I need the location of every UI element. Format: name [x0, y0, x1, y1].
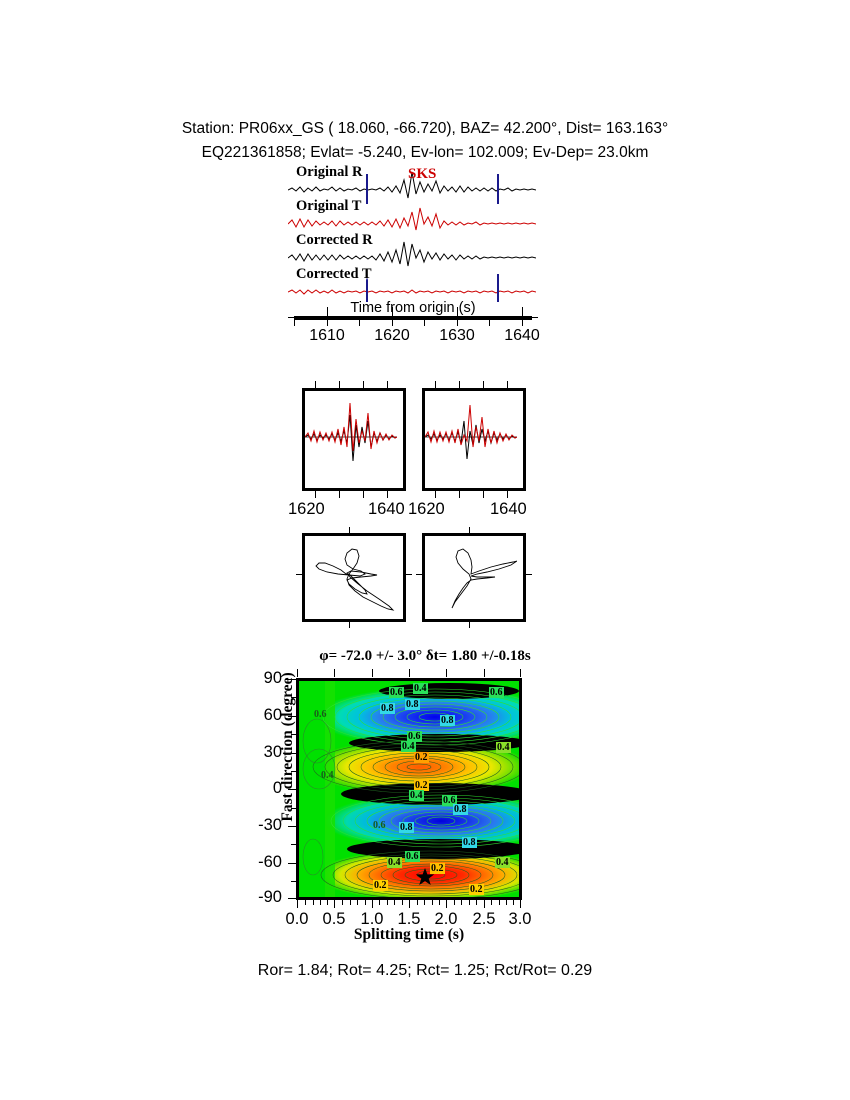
splitting-result-title: φ= -72.0 +/- 3.0° δt= 1.80 +/-0.18s: [0, 648, 850, 665]
time-tick-label-1630: 1630: [433, 327, 481, 345]
figure-header: Station: PR06xx_GS ( 18.060, -66.720), B…: [0, 118, 850, 164]
contour-label: 0.6: [489, 687, 504, 698]
y-tick-label-neg60: -60: [236, 853, 282, 872]
trace-label-corrected-r: Corrected R: [296, 232, 373, 249]
contour-label: 0.8: [440, 715, 455, 726]
trace-original-transverse: Original T: [288, 202, 536, 236]
contour-surface: [299, 681, 519, 897]
y-tick-neg90: [288, 898, 296, 899]
contour-label: 0.8: [453, 804, 468, 815]
y-tick-label-neg90: -90: [236, 888, 282, 907]
contour-label: 0.6: [372, 820, 387, 831]
time-tick-1620: [392, 307, 393, 317]
contour-label: 0.6: [405, 851, 420, 862]
contour-plot-area: 0.6 0.4 0.8 0.8 0.6 0.6 0.8 0.6 0.4 0.4 …: [296, 678, 522, 900]
y-tick-label-90: 90: [236, 669, 282, 688]
contour-label: 0.4: [495, 857, 510, 868]
trace-corrected-radial: Corrected R: [288, 236, 536, 270]
contour-label: 0.4: [387, 857, 402, 868]
time-tick-1640: [522, 307, 523, 317]
time-tick-1630: [457, 307, 458, 317]
time-tick-label-1640: 1640: [498, 327, 546, 345]
x-axis-title: Splitting time (s): [234, 926, 584, 944]
waveform-box-corrected-curves: [425, 391, 517, 482]
window-marker-end: [497, 174, 499, 204]
time-tick-label-1610: 1610: [303, 327, 351, 345]
waveform-trace-panel: Original R Original T Corrected R Correc…: [288, 168, 536, 308]
contour-label: 0.2: [469, 884, 484, 895]
contour-label: 0.8: [462, 837, 477, 848]
waveform-box-left-tick-1640: 1640: [368, 500, 405, 519]
waveform-box-original: [302, 388, 406, 491]
particle-motion-box-original: [302, 533, 406, 622]
time-axis: Time from origin (s) 1610 1620 1630 1640: [288, 305, 538, 360]
contour-label: 0.8: [399, 822, 414, 833]
time-axis-title: Time from origin (s): [288, 300, 538, 316]
particle-motion-curve-original: [305, 536, 397, 613]
particle-motion-box-corrected: [422, 533, 526, 622]
contour-label: 0.2: [430, 863, 445, 874]
contour-label: 0.8: [380, 703, 395, 714]
contour-label: 0.6: [313, 709, 328, 720]
waveform-box-corrected: [422, 388, 526, 491]
trace-corrected-transverse: Corrected T: [288, 270, 536, 304]
waveform-box-original-curves: [305, 391, 397, 482]
time-tick-label-1620: 1620: [368, 327, 416, 345]
waveform-box-right-tick-1640: 1640: [490, 500, 527, 519]
energy-contour-plot: 0.6 0.4 0.8 0.8 0.6 0.6 0.8 0.6 0.4 0.4 …: [296, 678, 522, 900]
sks-phase-label: SKS: [408, 166, 436, 183]
trace-label-original-r: Original R: [296, 164, 362, 181]
y-tick-label-0: 0: [236, 779, 282, 798]
contour-label: 0.4: [401, 741, 416, 752]
y-tick-label-30: 30: [236, 743, 282, 762]
event-info-line: EQ221361858; Evlat= -5.240, Ev-lon= 102.…: [0, 142, 850, 164]
quality-metrics-footer: Ror= 1.84; Rot= 4.25; Rct= 1.25; Rct/Rot…: [0, 962, 850, 980]
contour-label: 0.4: [496, 742, 511, 753]
trace-label-original-t: Original T: [296, 198, 361, 215]
waveform-box-left-tick-1620: 1620: [288, 500, 325, 519]
y-tick-label-neg30: -30: [236, 816, 282, 835]
y-tick-neg60: [288, 863, 296, 864]
window-marker-end-corrected: [497, 274, 499, 302]
contour-label: 0.2: [373, 880, 388, 891]
window-marker-start: [366, 174, 368, 204]
time-axis-line: [294, 316, 532, 320]
contour-label: 0.2: [414, 752, 429, 763]
waveform-box-right-tick-1620: 1620: [408, 500, 445, 519]
contour-label: 0.6: [389, 687, 404, 698]
contour-label: 0.4: [320, 770, 335, 781]
station-info-line: Station: PR06xx_GS ( 18.060, -66.720), B…: [0, 118, 850, 140]
contour-label: 0.4: [409, 790, 424, 801]
contour-label: 0.8: [405, 699, 420, 710]
trace-label-corrected-t: Corrected T: [296, 266, 372, 283]
y-axis-title: Fast direction (degree): [279, 647, 297, 847]
particle-motion-curve-corrected: [425, 536, 517, 613]
time-tick-1610: [327, 307, 328, 317]
contour-label: 0.4: [413, 683, 428, 694]
y-tick-label-60: 60: [236, 706, 282, 725]
